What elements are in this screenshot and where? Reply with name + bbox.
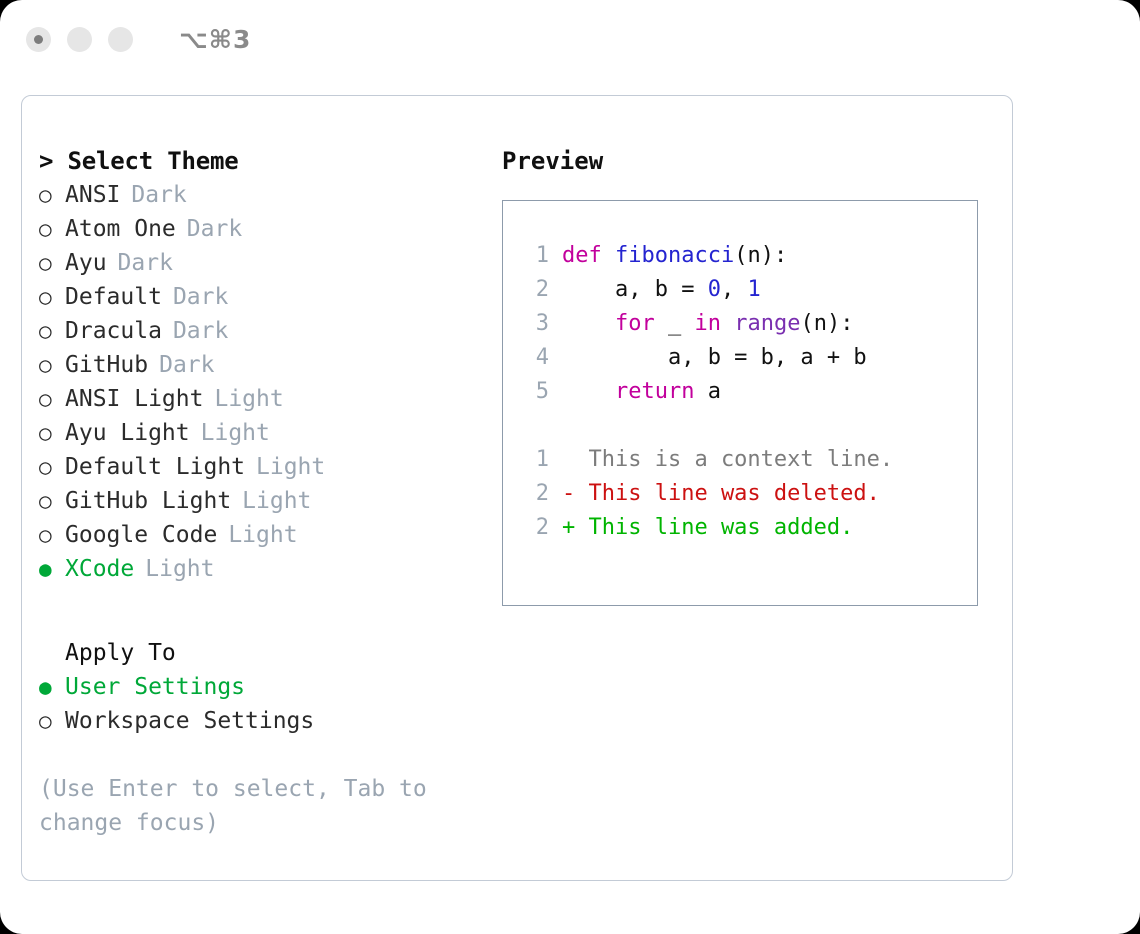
code-token: def [562,243,615,268]
title-bar: ⌥⌘3 [0,0,1140,78]
diff-line-text: This is a context line. [562,443,893,477]
theme-list-item[interactable]: ○GitHubDark [39,348,489,382]
radio-unselected-icon: ○ [39,704,65,738]
line-number: 3 [517,307,549,341]
theme-list-item[interactable]: ○ANSI LightLight [39,382,489,416]
diff-line: 2- This line was deleted. [517,477,977,511]
radio-unselected-icon: ○ [39,212,65,246]
code-line-text: for _ in range(n): [562,307,853,341]
line-number: 2 [517,477,549,511]
code-line-text: def fibonacci(n): [562,239,787,273]
theme-variant-tag: Light [214,382,283,416]
code-line: 3 for _ in range(n): [517,307,977,341]
diff-line: 1 This is a context line. [517,443,977,477]
line-number: 2 [517,511,549,545]
code-token: fibonacci [615,243,734,268]
theme-variant-tag: Dark [118,246,173,280]
radio-unselected-icon: ○ [39,450,65,484]
theme-variant-tag: Light [201,416,270,450]
theme-name-label: ANSI Light [65,382,203,416]
apply-to-list-item[interactable]: ●User Settings [39,670,489,704]
code-line: 1def fibonacci(n): [517,239,977,273]
line-number: 1 [517,239,549,273]
theme-list-item[interactable]: ○Google CodeLight [39,518,489,552]
keyboard-hint-text: (Use Enter to select, Tab to change focu… [39,772,439,840]
select-theme-heading: > Select Theme [39,144,489,178]
section-spacer [39,586,489,636]
theme-name-label: GitHub Light [65,484,231,518]
radio-unselected-icon: ○ [39,314,65,348]
code-token: in [694,311,721,336]
theme-variant-tag: Light [256,450,325,484]
radio-unselected-icon: ○ [39,382,65,416]
theme-variant-tag: Dark [131,178,186,212]
theme-name-label: ANSI [65,178,120,212]
code-token: a [694,379,721,404]
code-token: (n): [734,243,787,268]
window-dot-3-icon[interactable] [108,27,133,52]
apply-to-label: Workspace Settings [65,704,314,738]
radio-selected-icon: ● [39,670,65,704]
code-line: 2 a, b = 0, 1 [517,273,977,307]
theme-name-label: XCode [65,552,134,586]
apply-to-label: User Settings [65,670,245,704]
theme-list-item[interactable]: ○Default LightLight [39,450,489,484]
line-number: 5 [517,375,549,409]
window-dot-active-inner-icon [34,35,43,44]
theme-name-label: Google Code [65,518,217,552]
apply-to-list-item[interactable]: ○Workspace Settings [39,704,489,738]
code-token: for [615,311,655,336]
code-line: 4 a, b = b, a + b [517,341,977,375]
radio-selected-icon: ● [39,552,65,586]
app-window: ⌥⌘3 > Select Theme ○ANSIDark○Atom OneDar… [0,0,1140,934]
theme-variant-tag: Light [145,552,214,586]
code-token: , [721,277,748,302]
theme-name-label: Ayu Light [65,416,190,450]
theme-variant-tag: Dark [173,314,228,348]
theme-list-item[interactable]: ○Ayu LightLight [39,416,489,450]
theme-variant-tag: Light [228,518,297,552]
code-token: return [615,379,694,404]
code-token: a, b = b, a + b [562,345,867,370]
theme-name-label: Dracula [65,314,162,348]
code-line-text: a, b = b, a + b [562,341,867,375]
code-token: 0 [708,277,721,302]
code-token [562,311,615,336]
line-number: 1 [517,443,549,477]
diff-line-text: + This line was added. [562,511,853,545]
radio-unselected-icon: ○ [39,518,65,552]
theme-list-item[interactable]: ○AyuDark [39,246,489,280]
window-dot-2-icon[interactable] [67,27,92,52]
code-line-text: return a [562,375,721,409]
radio-unselected-icon: ○ [39,280,65,314]
line-number: 2 [517,273,549,307]
window-dot-active-icon[interactable] [26,27,51,52]
code-token: a, b = [562,277,708,302]
theme-list-item[interactable]: ○Atom OneDark [39,212,489,246]
theme-list-item[interactable]: ○DefaultDark [39,280,489,314]
theme-name-label: Atom One [65,212,176,246]
theme-name-label: GitHub [65,348,148,382]
theme-name-label: Default Light [65,450,245,484]
keyboard-shortcut-label: ⌥⌘3 [179,25,251,54]
radio-unselected-icon: ○ [39,484,65,518]
theme-list-item[interactable]: ●XCodeLight [39,552,489,586]
theme-list-item[interactable]: ○DraculaDark [39,314,489,348]
theme-name-label: Ayu [65,246,107,280]
code-preview-box: 1def fibonacci(n):2 a, b = 0, 13 for _ i… [502,200,978,606]
preview-column: Preview 1def fibonacci(n):2 a, b = 0, 13… [502,144,992,606]
radio-unselected-icon: ○ [39,416,65,450]
diff-line: 2+ This line was added. [517,511,977,545]
theme-variant-tag: Light [242,484,311,518]
code-token: range [734,311,800,336]
main-panel: > Select Theme ○ANSIDark○Atom OneDark○Ay… [21,95,1013,881]
theme-selector-column: > Select Theme ○ANSIDark○Atom OneDark○Ay… [39,144,489,840]
code-sample: 1def fibonacci(n):2 a, b = 0, 13 for _ i… [517,239,977,409]
code-line: 5 return a [517,375,977,409]
theme-variant-tag: Dark [173,280,228,314]
radio-unselected-icon: ○ [39,178,65,212]
theme-variant-tag: Dark [187,212,242,246]
diff-sample: 1 This is a context line.2- This line wa… [517,443,977,545]
code-token [562,379,615,404]
hint-spacer [39,738,489,772]
code-token: (n): [800,311,853,336]
preview-heading: Preview [502,144,992,178]
apply-to-heading: Apply To [39,636,489,670]
line-number: 4 [517,341,549,375]
apply-to-list: ●User Settings○Workspace Settings [39,670,489,738]
theme-name-label: Default [65,280,162,314]
theme-variant-tag: Dark [159,348,214,382]
window-controls [26,27,133,52]
theme-list: ○ANSIDark○Atom OneDark○AyuDark○DefaultDa… [39,178,489,586]
code-diff-spacer [517,409,977,443]
code-token: 1 [747,277,760,302]
radio-unselected-icon: ○ [39,246,65,280]
code-token [721,311,734,336]
theme-list-item[interactable]: ○GitHub LightLight [39,484,489,518]
code-token: _ [655,311,695,336]
radio-unselected-icon: ○ [39,348,65,382]
code-line-text: a, b = 0, 1 [562,273,761,307]
theme-list-item[interactable]: ○ANSIDark [39,178,489,212]
diff-line-text: - This line was deleted. [562,477,880,511]
